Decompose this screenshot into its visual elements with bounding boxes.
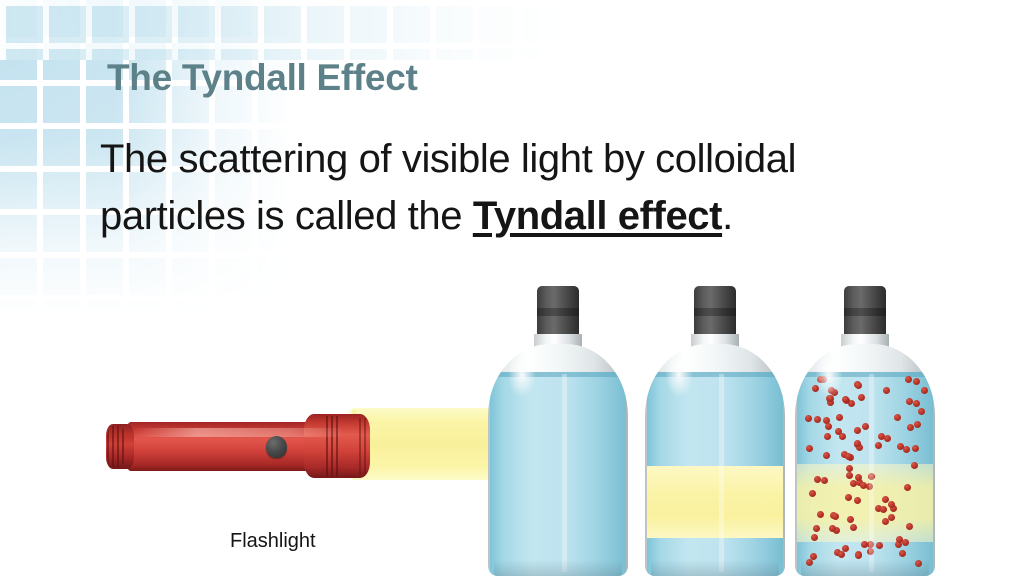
body-text-emphasis: Tyndall effect (473, 194, 722, 238)
flashlight-label: Flashlight (230, 530, 316, 553)
body-paragraph: The scattering of visible light by collo… (100, 131, 930, 245)
bottle-bottom-shadow (494, 560, 622, 576)
flashlight-end-cap-ribs (107, 426, 125, 467)
bottle-light-beam (645, 286, 785, 576)
bottle-cap (844, 286, 886, 340)
bottle-highlight (815, 352, 843, 398)
bottle-highlight-strip (869, 374, 874, 572)
flashlight-bezel-ribs (359, 418, 369, 474)
slide-tyndall-effect: The Tyndall Effect The scattering of vis… (0, 0, 1024, 576)
bottle-highlight-strip (562, 374, 567, 572)
flashlight-power-button[interactable] (266, 436, 287, 458)
flashlight-highlight (134, 428, 344, 437)
body-text-after: . (722, 194, 733, 238)
bottle-solution (488, 286, 628, 576)
flashlight (104, 408, 369, 484)
bottle-liquid (490, 372, 626, 576)
page-title: The Tyndall Effect (107, 57, 418, 99)
light-beam (352, 408, 502, 480)
bottle-glass (795, 344, 935, 576)
bottle-beam-band (647, 466, 783, 538)
bottle-glass (645, 344, 785, 576)
bottle-cap (694, 286, 736, 340)
bottle-colloid (795, 286, 935, 576)
bottle-bottom-shadow (651, 560, 779, 576)
background-grid-top-band (0, 0, 560, 60)
bottle-highlight-strip (719, 374, 724, 572)
bottle-bottom-shadow (801, 560, 929, 576)
flashlight-head-band (326, 416, 340, 476)
bottle-highlight (508, 352, 536, 398)
bottle-highlight (665, 352, 693, 398)
bottle-glass (488, 344, 628, 576)
bottle-cap (537, 286, 579, 340)
